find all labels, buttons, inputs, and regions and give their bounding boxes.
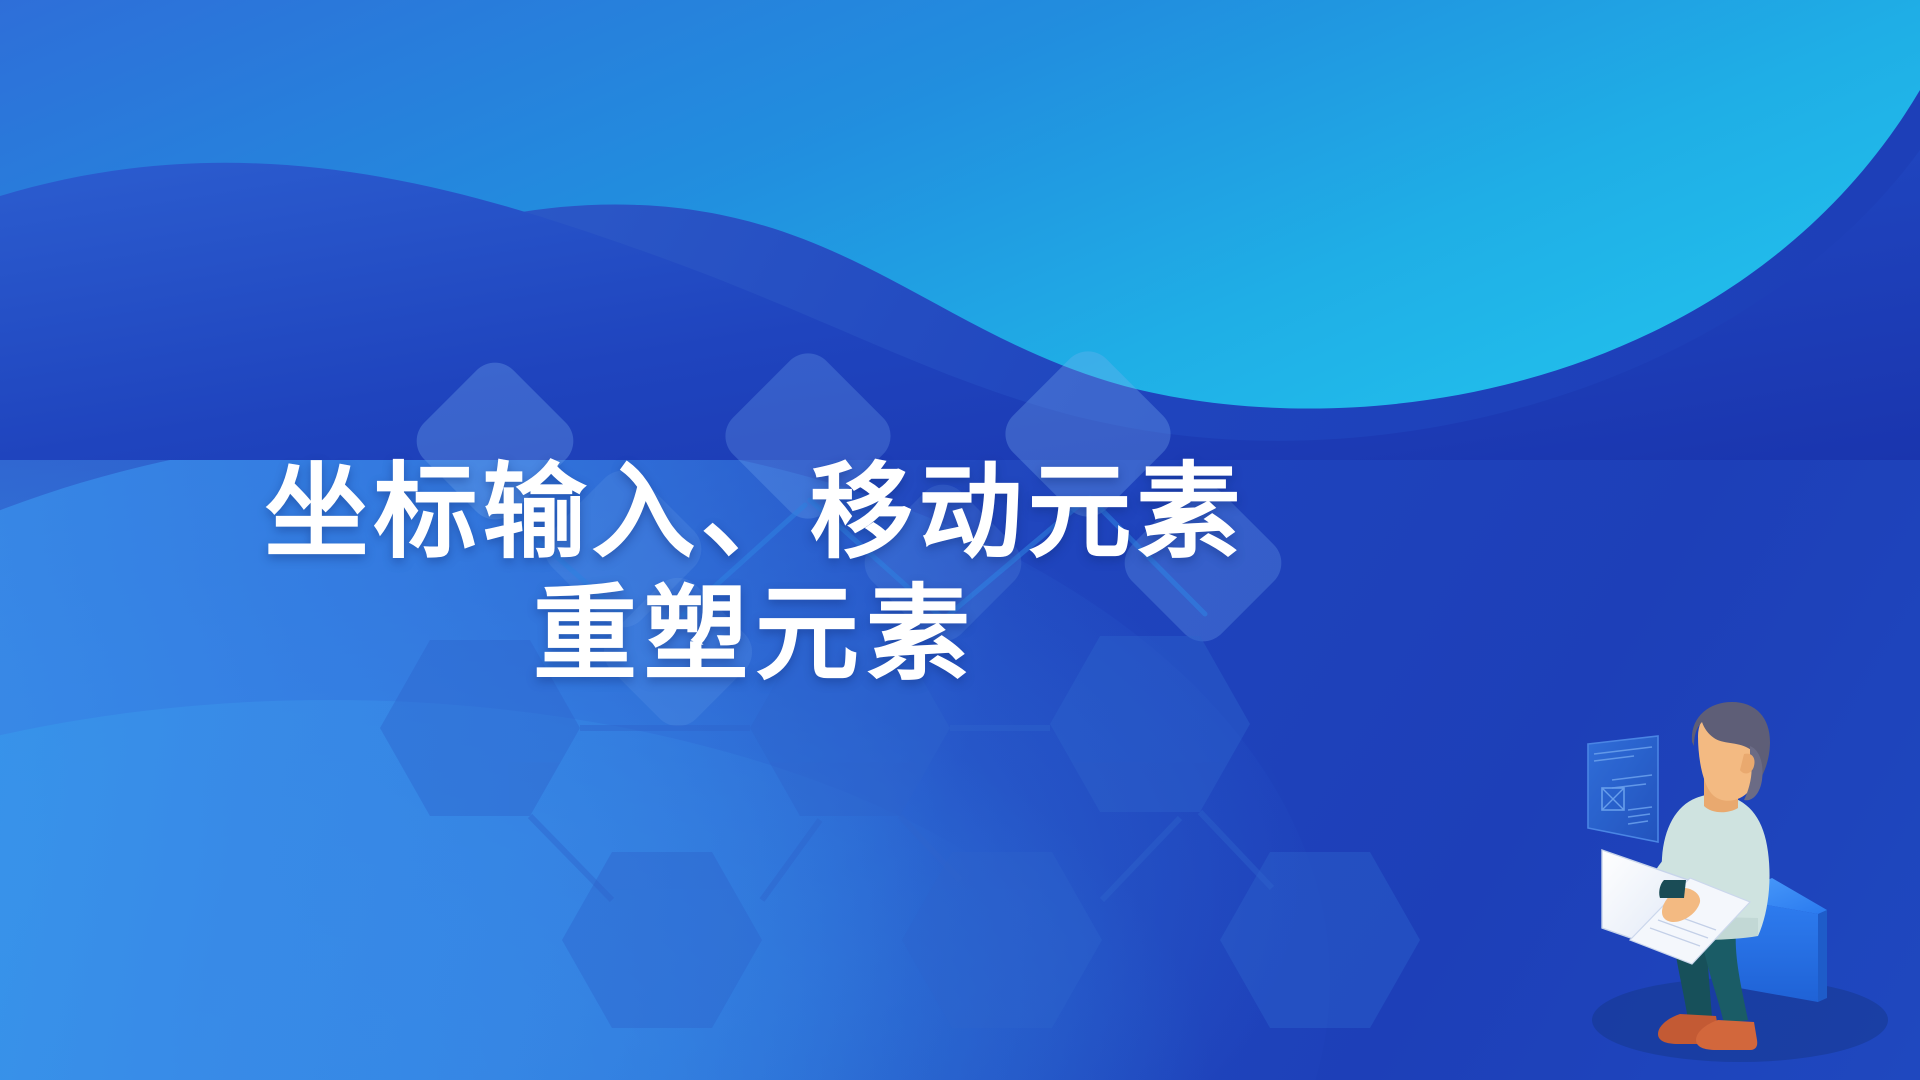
wireframe-monitor	[1588, 736, 1658, 842]
person-with-laptop-illustration	[1572, 702, 1902, 1072]
slide-canvas: 坐标输入、移动元素 重塑元素	[0, 0, 1920, 1080]
